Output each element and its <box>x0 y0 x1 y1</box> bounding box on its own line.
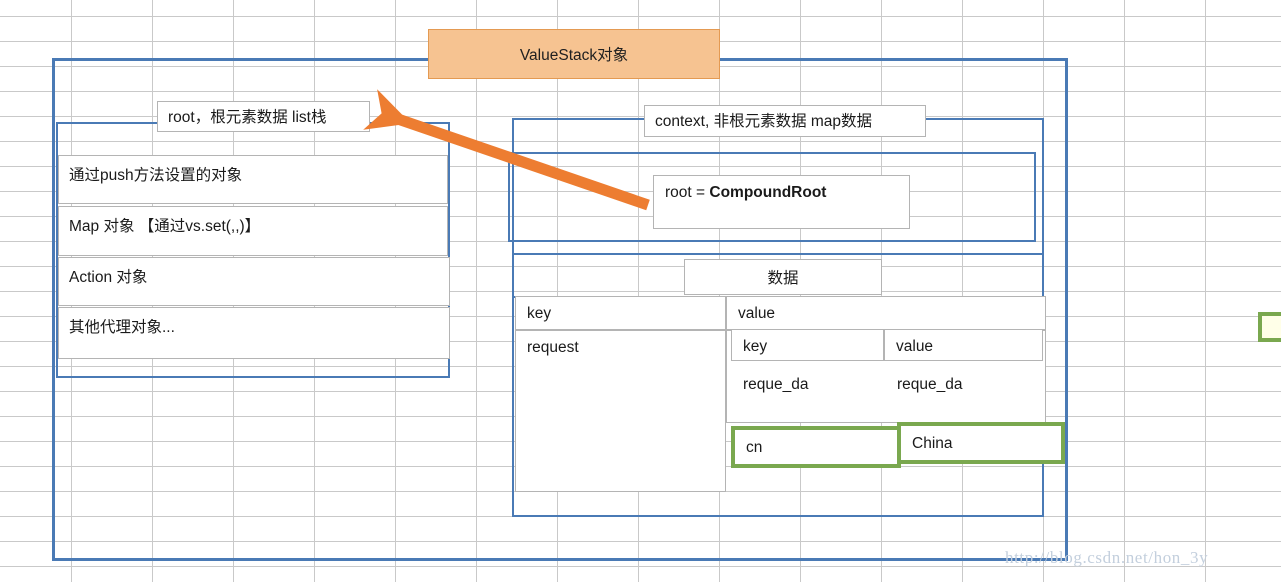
outer-table-key-header: key <box>515 296 726 330</box>
context-map-label-text: context, 非根元素数据 map数据 <box>655 113 872 130</box>
inner-table-key-header-label: key <box>743 338 767 355</box>
outer-table-key-cell-request: request <box>515 330 726 492</box>
compoundroot-prefix: root = <box>665 184 709 201</box>
inner-table-key-header: key <box>731 329 884 361</box>
context-map-label: context, 非根元素数据 map数据 <box>644 105 926 137</box>
inner-table-highlight-key-cn-label: cn <box>746 439 762 456</box>
root-stack-row-3-label: 其他代理对象... <box>69 315 175 337</box>
root-stack-row-2: Action 对象 <box>58 257 450 306</box>
diagram-canvas: ValueStack对象 通过push方法设置的对象 Map 对象 【通过vs.… <box>0 0 1281 582</box>
root-stack-row-2-label: Action 对象 <box>69 265 147 287</box>
valuestack-title-label: ValueStack对象 <box>520 43 628 65</box>
data-section-label: 数据 <box>767 266 798 288</box>
outer-table-key-cell-request-label: request <box>527 339 579 356</box>
root-stack-label-text: root，根元素数据 list栈 <box>168 109 326 126</box>
root-stack-label: root，根元素数据 list栈 <box>157 101 370 132</box>
inner-table-row-0-key: reque_da <box>743 376 809 394</box>
data-section-label-box: 数据 <box>684 259 882 295</box>
inner-table-highlight-key-cn: cn <box>731 426 901 468</box>
root-stack-row-1: Map 对象 【通过vs.set(,,)】 <box>58 206 448 256</box>
root-stack-row-1-label: Map 对象 【通过vs.set(,,)】 <box>69 214 260 236</box>
offscreen-green-box <box>1258 312 1281 342</box>
inner-table-highlight-value-china: China <box>897 422 1065 464</box>
compoundroot-box: root = CompoundRoot <box>653 175 910 229</box>
inner-table-value-header-label: value <box>896 338 933 355</box>
outer-table-value-header: value <box>726 296 1046 330</box>
inner-table-row-0-value: reque_da <box>897 376 963 394</box>
valuestack-title-box: ValueStack对象 <box>428 29 720 79</box>
root-stack-row-0-label: 通过push方法设置的对象 <box>69 163 242 185</box>
watermark-text: http://blog.csdn.net/hon_3y <box>1005 548 1208 568</box>
inner-table-highlight-value-china-label: China <box>912 435 953 452</box>
outer-table-key-header-label: key <box>527 305 551 322</box>
inner-table-value-header: value <box>884 329 1043 361</box>
root-stack-row-0: 通过push方法设置的对象 <box>58 155 448 204</box>
outer-table-value-header-label: value <box>738 305 775 322</box>
root-stack-row-3: 其他代理对象... <box>58 307 450 359</box>
compoundroot-value: CompoundRoot <box>709 184 826 201</box>
